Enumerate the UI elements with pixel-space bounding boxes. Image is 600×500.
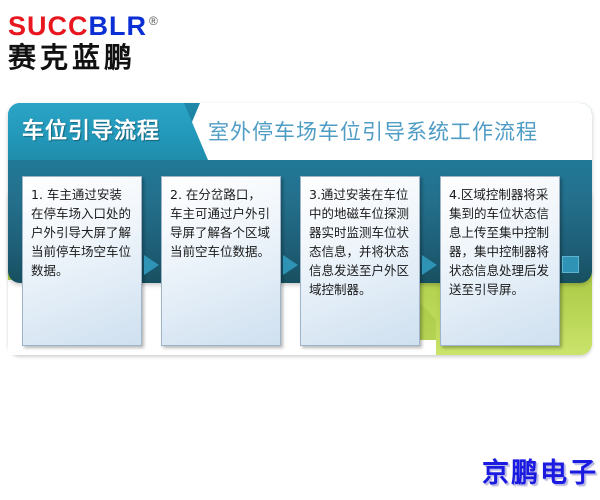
flow-step-box-2[interactable]: 2. 在分岔路口，车主可通过户外引导屏了解各个区域当前空车位数据。 (161, 176, 281, 346)
flow-end-marker-icon (562, 256, 579, 273)
footer-brand-text: 京鹏电子 (482, 458, 598, 490)
flow-step-text-3: 3.通过安装在车位中的地磁车位探测器实时监测车位状态信息，并将状态信息发送至户外… (309, 185, 412, 299)
flow-step-box-1[interactable]: 1. 车主通过安装在停车场入口处的户外引导大屏了解当前停车场空车位数据。 (22, 176, 142, 346)
slide-canvas: SUCCBLR® 赛克蓝鹏 车位引导流程 室外停车场车位引导系统工作流程 1. … (0, 0, 600, 500)
flow-arrow-right-icon-3 (422, 255, 437, 275)
flow-diagram: 1. 车主通过安装在停车场入口处的户外引导大屏了解当前停车场空车位数据。 2. … (0, 0, 600, 500)
flow-step-text-4: 4.区域控制器将采集到的车位状态信息上传至集中控制器，集中控制器将状态信息处理后… (449, 185, 552, 299)
flow-arrow-right-icon-1 (144, 255, 159, 275)
flow-arrow-right-icon-2 (283, 255, 298, 275)
flow-step-text-2: 2. 在分岔路口，车主可通过户外引导屏了解各个区域当前空车位数据。 (170, 185, 273, 261)
flow-step-box-4[interactable]: 4.区域控制器将采集到的车位状态信息上传至集中控制器，集中控制器将状态信息处理后… (440, 176, 560, 346)
flow-step-text-1: 1. 车主通过安装在停车场入口处的户外引导大屏了解当前停车场空车位数据。 (31, 185, 134, 280)
flow-step-box-3[interactable]: 3.通过安装在车位中的地磁车位探测器实时监测车位状态信息，并将状态信息发送至户外… (300, 176, 420, 346)
